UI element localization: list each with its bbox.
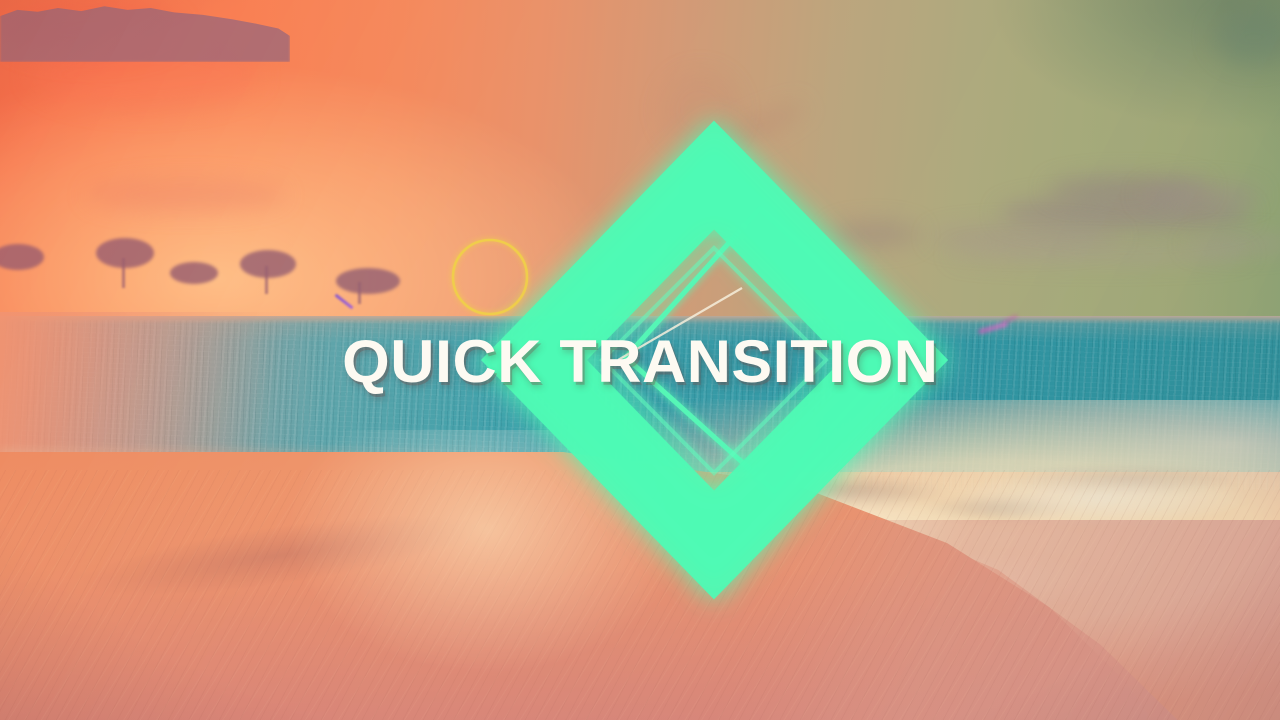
large-diamond-outline-icon xyxy=(534,175,895,545)
geometric-overlay xyxy=(0,0,1280,720)
video-frame: QUICK TRANSITION xyxy=(0,0,1280,720)
yellow-ring-icon xyxy=(453,240,527,314)
